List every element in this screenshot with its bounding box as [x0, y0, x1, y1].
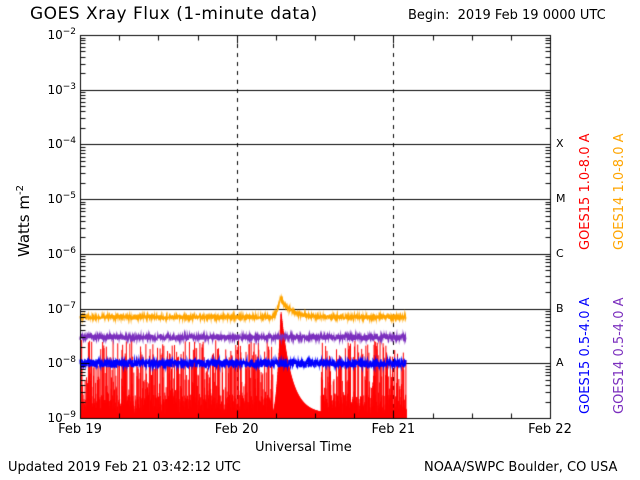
flare-class-label-b: B: [556, 302, 564, 315]
legend-item-3: GOES14 0.5-4.0 A: [612, 297, 627, 414]
flare-class-labels: XMCBA: [0, 0, 640, 480]
x-axis-label: Universal Time: [255, 440, 352, 455]
xray-flux-plot: GOES Xray Flux (1-minute data) Begin: 20…: [0, 0, 640, 480]
legend-item-0: GOES15 1.0-8.0 A: [578, 133, 593, 250]
flare-class-label-a: A: [556, 356, 564, 369]
credit-label: NOAA/SWPC Boulder, CO USA: [424, 460, 617, 475]
legend-item-2: GOES15 0.5-4.0 A: [578, 297, 593, 414]
flare-class-label-x: X: [556, 137, 564, 150]
flare-class-label-c: C: [556, 247, 564, 260]
updated-timestamp: Updated 2019 Feb 21 03:42:12 UTC: [8, 460, 241, 475]
legend-item-1: GOES14 1.0-8.0 A: [612, 133, 627, 250]
flare-class-label-m: M: [556, 192, 566, 205]
